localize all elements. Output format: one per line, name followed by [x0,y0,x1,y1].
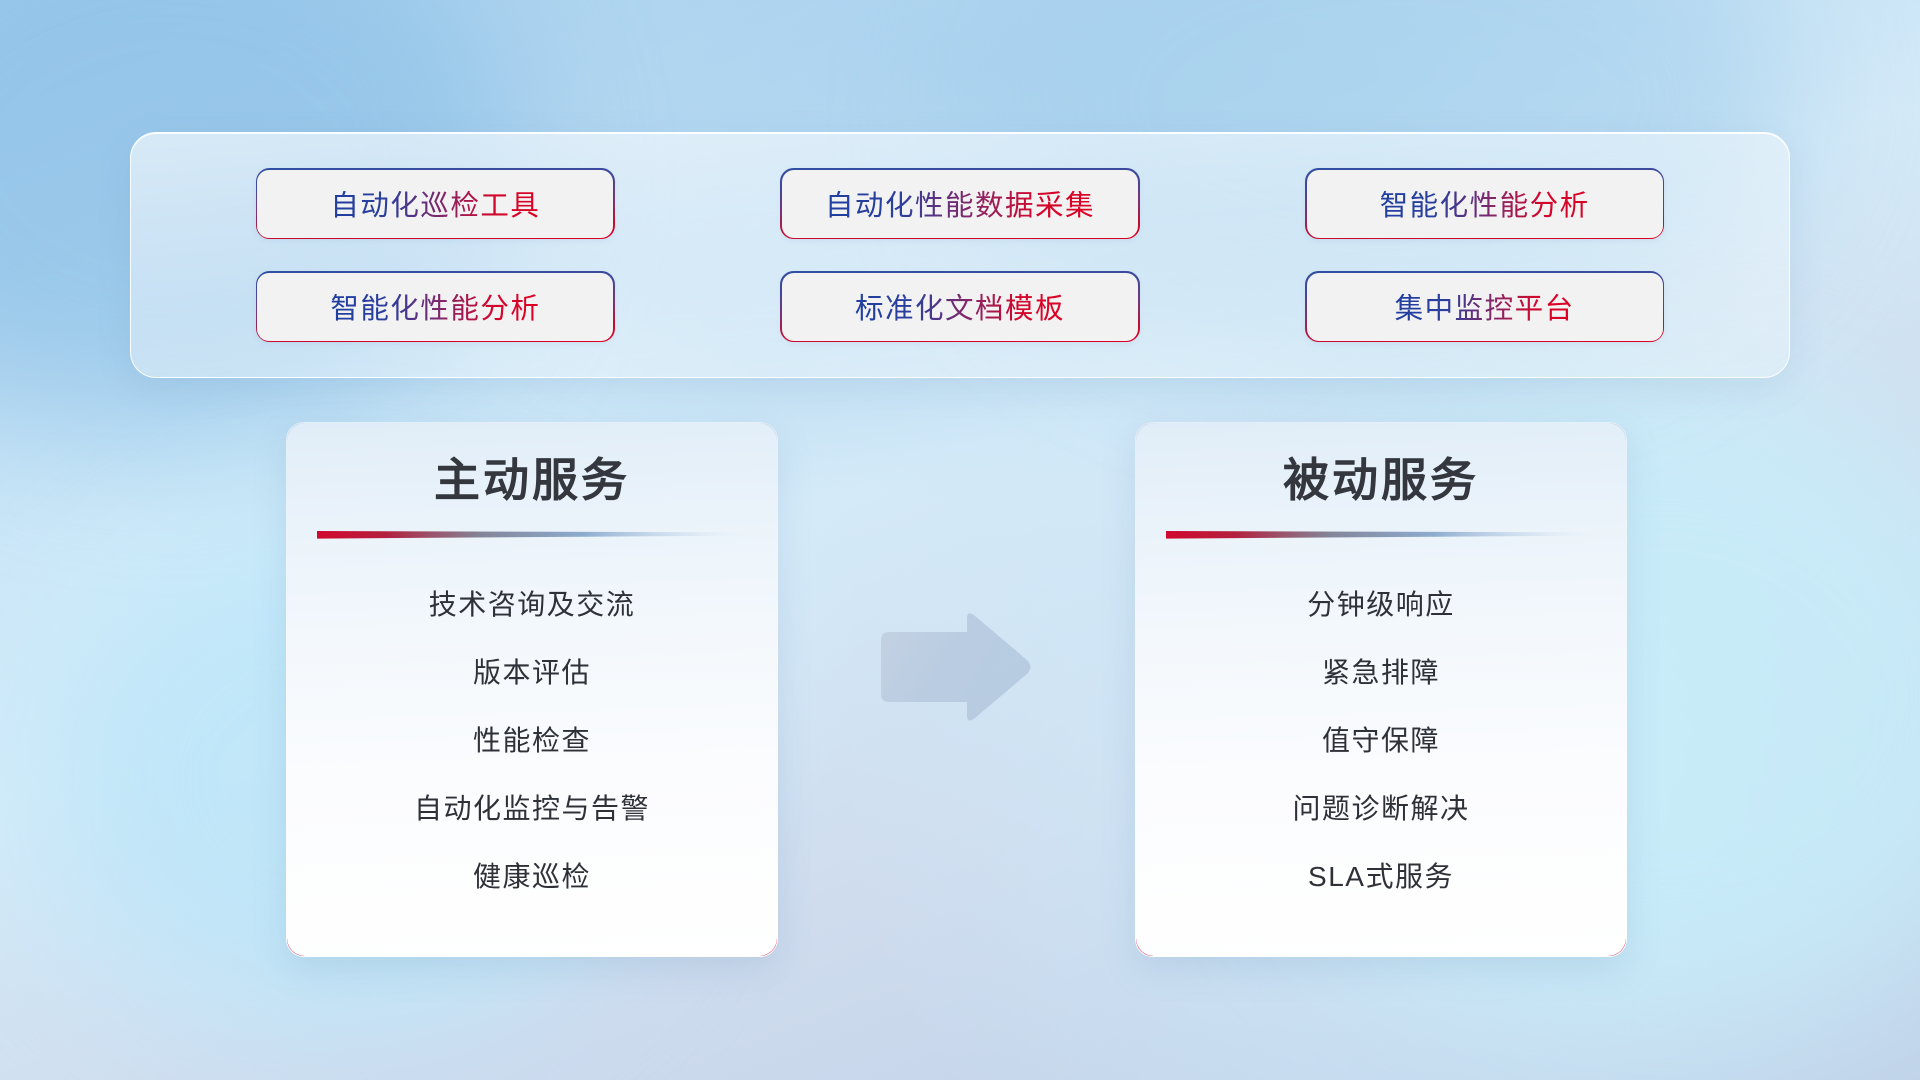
service-list-passive: 分钟级响应 紧急排障 值守保障 问题诊断解决 SLA式服务 [1136,571,1626,911]
capability-pill-label: 智能化性能分析 [1380,183,1590,224]
capability-pill-1[interactable]: 自动化巡检工具 [257,170,613,238]
flow-arrow-right-icon [875,612,1035,722]
capability-pill-6[interactable]: 集中监控平台 [1307,273,1663,341]
service-list-item[interactable]: 技术咨询及交流 [429,571,636,639]
capability-pill-2[interactable]: 自动化性能数据采集 [782,170,1138,238]
service-list-item[interactable]: 健康巡检 [473,843,591,911]
service-list-item[interactable]: 值守保障 [1322,707,1440,775]
service-list-item[interactable]: SLA式服务 [1308,843,1454,911]
service-list-item[interactable]: 性能检查 [473,707,591,775]
card-divider-active [317,530,747,539]
service-list-item[interactable]: 问题诊断解决 [1292,775,1469,843]
capability-pill-5[interactable]: 标准化文档模板 [782,273,1138,341]
capability-pill-label: 自动化性能数据采集 [825,183,1095,224]
capability-pill-label: 智能化性能分析 [330,286,540,327]
service-list-active: 技术咨询及交流 版本评估 性能检查 自动化监控与告警 健康巡检 [287,571,777,911]
capabilities-panel: 自动化巡检工具 自动化性能数据采集 智能化性能分析 智能化性能分析 标准化文档模… [130,132,1790,378]
capability-pill-3[interactable]: 智能化性能分析 [1307,170,1663,238]
service-list-item[interactable]: 版本评估 [473,639,591,707]
service-card-active[interactable]: 主动服务 [286,422,778,957]
capability-pill-4[interactable]: 智能化性能分析 [257,273,613,341]
service-card-passive[interactable]: 被动服务 [1135,422,1627,957]
service-list-item[interactable]: 分钟级响应 [1307,571,1455,639]
card-title-passive: 被动服务 [1283,453,1479,508]
capability-pill-label: 集中监控平台 [1395,286,1575,327]
service-list-item[interactable]: 紧急排障 [1322,639,1440,707]
service-list-item[interactable]: 自动化监控与告警 [414,775,650,843]
card-title-active: 主动服务 [434,453,630,508]
card-divider-passive [1166,530,1596,539]
slide-canvas: 自动化巡检工具 自动化性能数据采集 智能化性能分析 智能化性能分析 标准化文档模… [0,0,1920,1080]
capability-pill-label: 标准化文档模板 [855,286,1065,327]
capability-pill-label: 自动化巡检工具 [330,183,540,224]
